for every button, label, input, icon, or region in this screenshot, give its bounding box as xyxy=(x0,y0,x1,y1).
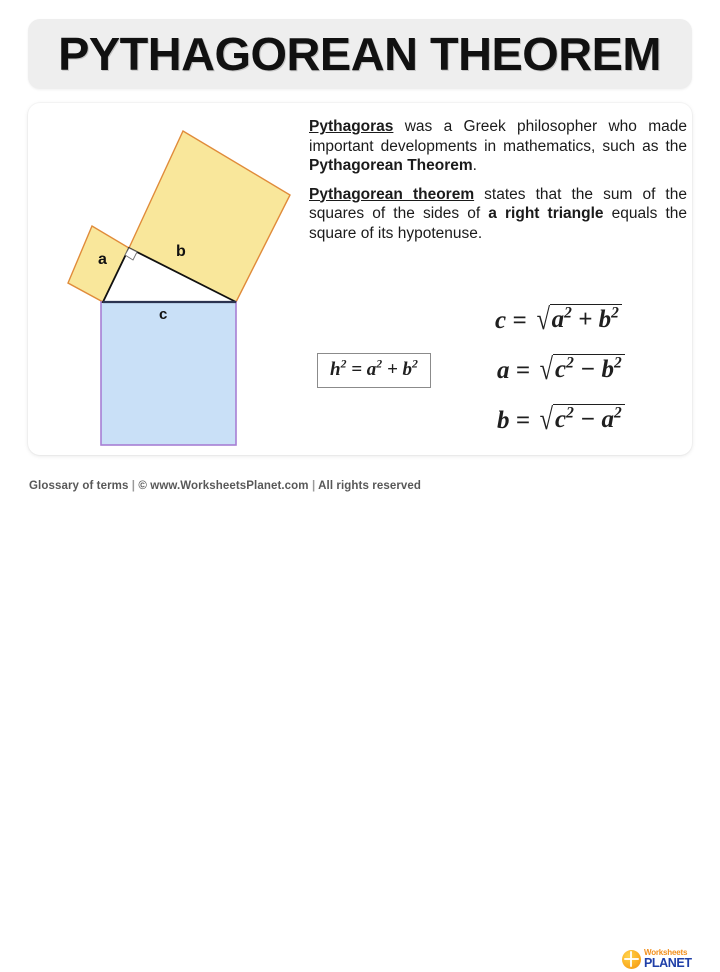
formula-solve-b: b = √c2 − a2 xyxy=(497,401,625,436)
eq-a-mid: − xyxy=(580,356,595,383)
title-panel: PYTHAGOREAN THEOREM xyxy=(28,19,692,89)
eq-c-lhs: c xyxy=(495,307,506,334)
logo-text-worksheets: Worksheets xyxy=(644,949,692,957)
boxed-op: = xyxy=(351,359,362,380)
term-pythagorean-theorem: Pythagorean Theorem xyxy=(309,157,473,174)
formula-boxed-h-squared: h2 = a2 + b2 xyxy=(317,353,431,388)
footer-separator-2: | xyxy=(312,480,315,492)
diagram-label-b: b xyxy=(176,243,186,261)
eq-c-t2-exp: 2 xyxy=(611,305,619,322)
pythagorean-diagram: a b c xyxy=(28,103,328,455)
footer-glossary: Glossary of terms xyxy=(29,480,129,492)
boxed-t2-exp: 2 xyxy=(412,358,418,371)
eq-b-t1: c xyxy=(555,406,566,433)
description-text: Pythagoras was a Greek philosopher who m… xyxy=(309,117,687,252)
eq-c-t2: b xyxy=(599,306,612,333)
boxed-lhs: h xyxy=(330,359,341,380)
worksheet-page: PYTHAGOREAN THEOREM a b c xyxy=(0,0,720,509)
term-right-triangle: a right triangle xyxy=(488,205,603,222)
term-pythagoras: Pythagoras xyxy=(309,118,393,135)
eq-b-t2: a xyxy=(602,406,615,433)
worksheets-planet-logo[interactable]: Worksheets PLANET xyxy=(622,946,698,972)
eq-a-op: = xyxy=(516,357,530,384)
square-on-side-c xyxy=(101,302,236,445)
formula-area: h2 = a2 + b2 c = √a2 + b2 a = √c2 − b2 b… xyxy=(309,299,687,449)
eq-c-op: = xyxy=(512,307,526,334)
eq-c-mid: + xyxy=(578,306,592,333)
footer-copyright[interactable]: © www.WorksheetsPlanet.com xyxy=(138,480,308,492)
eq-c-t1-exp: 2 xyxy=(564,305,572,322)
eq-a-t2-exp: 2 xyxy=(614,355,622,372)
p1-text-2: . xyxy=(473,157,477,174)
eq-b-t2-exp: 2 xyxy=(614,405,622,422)
eq-a-radical: √c2 − b2 xyxy=(536,351,625,386)
eq-b-lhs: b xyxy=(497,407,510,434)
radical-sign-icon: √ xyxy=(540,352,553,387)
eq-a-t1-exp: 2 xyxy=(566,355,574,372)
diagram-label-c: c xyxy=(159,306,167,323)
radical-sign-icon: √ xyxy=(540,402,553,437)
logo-text-planet: PLANET xyxy=(644,957,692,970)
eq-a-lhs: a xyxy=(497,357,510,384)
eq-a-radicand: c2 − b2 xyxy=(553,354,625,384)
footer: Glossary of terms | © www.WorksheetsPlan… xyxy=(0,470,720,509)
eq-b-radicand: c2 − a2 xyxy=(553,404,625,434)
footer-rights: All rights reserved xyxy=(318,480,421,492)
eq-b-t1-exp: 2 xyxy=(566,405,574,422)
logo-wordmark: Worksheets PLANET xyxy=(644,949,692,970)
eq-a-t1: c xyxy=(555,356,566,383)
formula-solve-c: c = √a2 + b2 xyxy=(495,301,622,336)
eq-b-op: = xyxy=(516,407,530,434)
eq-c-radicand: a2 + b2 xyxy=(550,304,622,334)
eq-b-mid: − xyxy=(580,406,595,433)
boxed-mid: + xyxy=(387,359,398,380)
boxed-t1: a xyxy=(367,359,377,380)
eq-c-radical: √a2 + b2 xyxy=(533,301,622,336)
footer-separator-1: | xyxy=(132,480,135,492)
diagram-label-a: a xyxy=(98,251,107,269)
eq-c-t1: a xyxy=(552,306,565,333)
formula-solve-a: a = √c2 − b2 xyxy=(497,351,625,386)
boxed-lhs-exp: 2 xyxy=(341,358,347,371)
page-title: PYTHAGOREAN THEOREM xyxy=(59,27,662,81)
globe-icon xyxy=(622,950,641,969)
boxed-t1-exp: 2 xyxy=(376,358,382,371)
eq-a-t2: b xyxy=(602,356,615,383)
radical-sign-icon: √ xyxy=(537,302,550,337)
content-panel: a b c Pythagoras was a Greek philosopher… xyxy=(28,103,692,455)
paragraph-pythagoras: Pythagoras was a Greek philosopher who m… xyxy=(309,117,687,176)
paragraph-theorem: Pythagorean theorem states that the sum … xyxy=(309,185,687,244)
eq-b-radical: √c2 − a2 xyxy=(536,401,625,436)
term-pythagorean-theorem-2: Pythagorean theorem xyxy=(309,186,474,203)
footer-credits: Glossary of terms | © www.WorksheetsPlan… xyxy=(29,480,421,492)
boxed-t2: b xyxy=(403,359,413,380)
